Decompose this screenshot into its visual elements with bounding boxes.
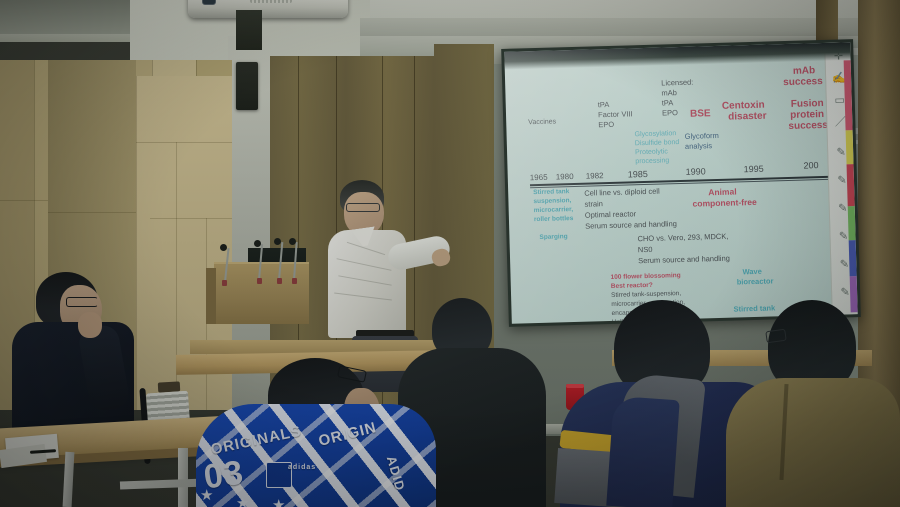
slide-label-bioreactor: bioreactor	[737, 277, 774, 287]
slide-label-bse: BSE	[690, 108, 711, 120]
slide-label-serum-2: Serum source and handling	[638, 255, 730, 266]
lectern-side	[206, 268, 216, 324]
slide-label-optimal-reactor: Optimal reactor	[585, 210, 637, 220]
microphone-head-3	[274, 238, 281, 245]
slide-label-100-flower: 100 flower blossoming	[611, 272, 681, 282]
slide-label-cellline: Cell line vs. diploid cell	[584, 188, 660, 199]
slide-label-cho: CHO vs. Vero, 293, MDCK,	[637, 233, 728, 244]
slide-label-animal: Animal	[708, 186, 737, 197]
slide-label-proteolytic: Proteolytic	[635, 148, 668, 157]
jacket-word-adid: ADID	[384, 454, 408, 493]
slide-label-strain: strain	[584, 200, 603, 209]
slide-label-vaccines: Vaccines	[528, 118, 556, 127]
slide-label-ns0: NS0	[638, 246, 653, 255]
projector-lens-icon	[202, 0, 216, 5]
microphone-base-4	[292, 278, 297, 284]
slide-label-sparging: Sparging	[539, 233, 567, 241]
swatch-green[interactable]	[848, 206, 856, 240]
jacket-star-2: ★	[236, 494, 249, 507]
projection-screen: Vaccines tPA Factor VIII EPO Licensed: m…	[501, 39, 861, 327]
microphone-head-1	[220, 244, 227, 251]
microphone-base-3	[277, 278, 282, 284]
lecture-hall-photo: Vaccines tPA Factor VIII EPO Licensed: m…	[0, 0, 900, 507]
timeline-year-1990: 1990	[686, 166, 706, 177]
attendee-4-shirt	[726, 378, 900, 507]
ceiling-speaker-upper	[236, 10, 262, 50]
slide-label-success: success	[788, 120, 828, 133]
microphone-base-2	[257, 278, 262, 284]
adidas-jacket-graphic: ORIGINALS ORIGIN ADID 03 ★ ★ ★ adidas	[196, 404, 436, 507]
jacket-word-origin: ORIGIN	[317, 419, 379, 450]
hoodie-arm	[606, 396, 680, 507]
timeline-year-1965: 1965	[530, 173, 548, 183]
slide-label-glycosylation: Glycosylation	[635, 130, 677, 139]
jacket-star-3: ★	[272, 496, 285, 507]
table-leg-1	[63, 452, 75, 507]
jacket-star-1: ★	[200, 486, 213, 504]
slide-label-disaster: disaster	[728, 111, 767, 124]
attendee-glasses-icon	[66, 297, 98, 307]
slide-label-disulfide: Disulfide bond	[635, 139, 680, 148]
slide-label-wave: Wave	[742, 268, 762, 277]
slide-label-suspension: suspension,	[533, 197, 571, 206]
swatch-blue[interactable]	[849, 240, 857, 276]
slide-label-stirred-tank-1: Stirred tank	[533, 188, 569, 197]
slide-label-mab: mAb	[661, 89, 677, 98]
timeline-year-2000: 200	[803, 160, 818, 171]
table-leg-2	[178, 448, 188, 507]
jacket-brand-adidas: adidas	[288, 464, 316, 471]
jacket-word-originals: ORIGINALS	[209, 423, 303, 459]
lecturer-glasses-icon	[346, 203, 380, 212]
microphone-head-2	[254, 240, 261, 247]
slide-label-licensed: Licensed:	[661, 79, 693, 89]
swatch-red[interactable]	[847, 164, 855, 206]
slide-label-best-reactor: Best reactor?	[611, 282, 653, 291]
swatch-pink[interactable]	[844, 60, 853, 130]
timeline-year-1985: 1985	[628, 169, 648, 180]
slide-label-mab-success-2: success	[783, 76, 823, 89]
slide-label-analysis: analysis	[685, 142, 712, 152]
swatch-yellow[interactable]	[846, 130, 854, 164]
slide-label-epo-2: EPO	[662, 109, 678, 118]
slide-label-epo: EPO	[598, 121, 614, 130]
wall-speaker	[236, 62, 258, 110]
attendee-hand-on-chin	[78, 312, 102, 338]
slide-content: Vaccines tPA Factor VIII EPO Licensed: m…	[504, 42, 857, 324]
slide-label-tpa-2: tPA	[662, 99, 674, 108]
slide-label-glycoform: Glycoform	[685, 132, 719, 142]
swatch-purple[interactable]	[850, 276, 858, 312]
slide-label-serum-1: Serum source and handling	[585, 220, 677, 231]
slide-label-component-free: component-free	[692, 197, 756, 209]
ceiling-projector	[188, 0, 348, 18]
table-stretcher	[120, 479, 206, 490]
slide-label-processing: processing	[635, 157, 669, 166]
slide-label-microcarrier: microcarrier,	[534, 206, 574, 215]
timeline-year-1995: 1995	[744, 164, 764, 175]
slide-label-stirred-tank-susp: Stirred tank-suspension,	[611, 290, 681, 300]
projector-vent	[250, 0, 292, 3]
microphone-base-1	[222, 280, 227, 286]
timeline-year-1982: 1982	[586, 171, 604, 181]
slide-label-roller-bottles: roller bottles	[534, 215, 574, 224]
slide-label-tpa: tPA	[598, 101, 610, 110]
slide-label-stirred-tank-2: Stirred tank	[733, 304, 775, 314]
microphone-head-4	[289, 238, 296, 245]
timeline-year-1980: 1980	[556, 172, 574, 182]
slide-label-factor-viii: Factor VIII	[598, 110, 633, 120]
